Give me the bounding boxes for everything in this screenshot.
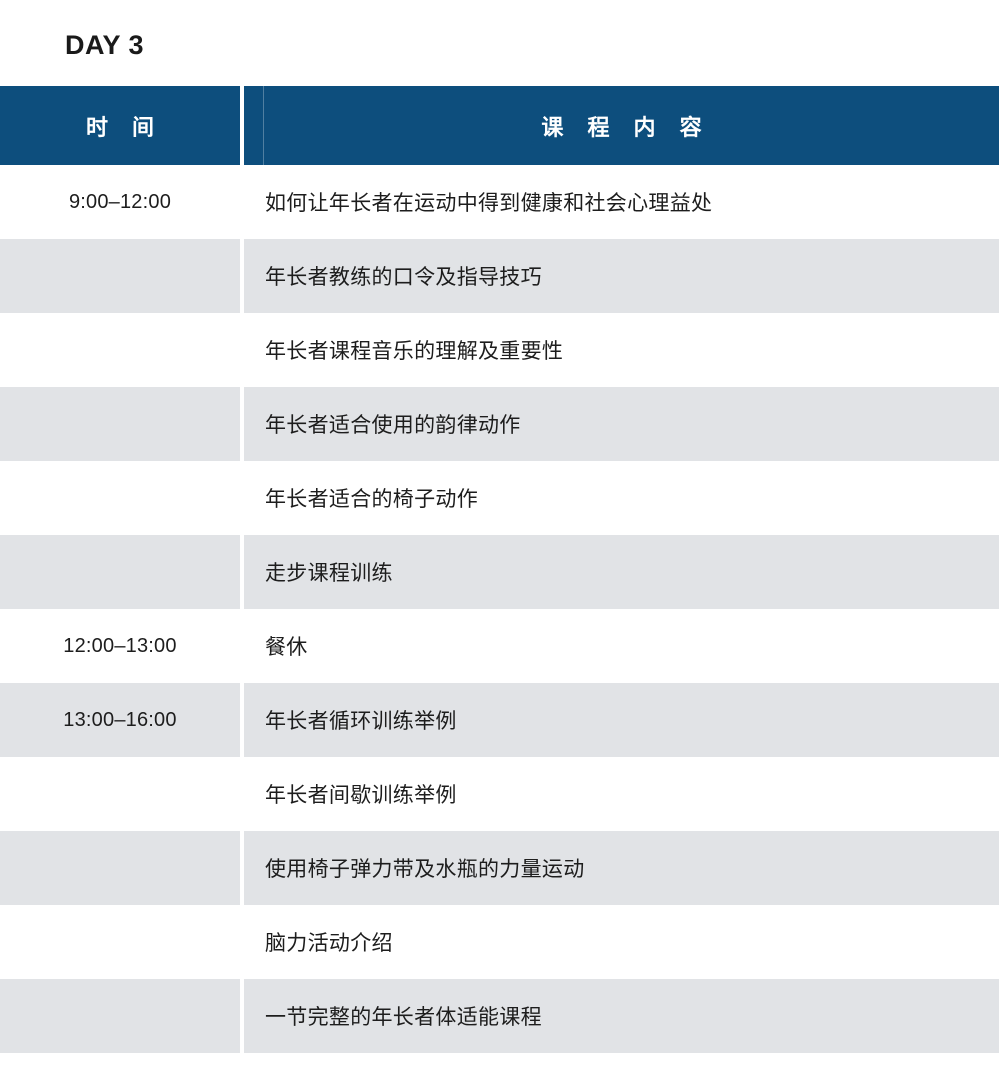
cell-content: 年长者课程音乐的理解及重要性 <box>244 313 999 387</box>
cell-content: 年长者教练的口令及指导技巧 <box>244 239 999 313</box>
cell-content: 走步课程训练 <box>244 535 999 609</box>
table-body: 9:00–12:00如何让年长者在运动中得到健康和社会心理益处年长者教练的口令及… <box>0 165 999 1053</box>
cell-time <box>0 757 240 831</box>
cell-content: 使用椅子弹力带及水瓶的力量运动 <box>244 831 999 905</box>
table-row: 13:00–16:00年长者循环训练举例 <box>0 683 999 757</box>
cell-time: 12:00–13:00 <box>0 609 240 683</box>
column-header-time: 时 间 <box>0 86 240 165</box>
cell-content: 脑力活动介绍 <box>244 905 999 979</box>
table-row: 9:00–12:00如何让年长者在运动中得到健康和社会心理益处 <box>0 165 999 239</box>
table-row: 年长者适合的椅子动作 <box>0 461 999 535</box>
table-row: 年长者教练的口令及指导技巧 <box>0 239 999 313</box>
cell-content: 年长者间歇训练举例 <box>244 757 999 831</box>
cell-content: 如何让年长者在运动中得到健康和社会心理益处 <box>244 165 999 239</box>
cell-content: 餐休 <box>244 609 999 683</box>
cell-time <box>0 239 240 313</box>
cell-content: 年长者适合的椅子动作 <box>244 461 999 535</box>
column-header-content-label: 课 程 内 容 <box>532 110 710 142</box>
table-row: 12:00–13:00餐休 <box>0 609 999 683</box>
table-row: 一节完整的年长者体适能课程 <box>0 979 999 1053</box>
cell-time: 13:00–16:00 <box>0 683 240 757</box>
schedule-table: 时 间 课 程 内 容 9:00–12:00如何让年长者在运动中得到健康和社会心… <box>0 86 999 1053</box>
column-header-content: 课 程 内 容 <box>244 86 999 165</box>
cell-time <box>0 387 240 461</box>
cell-content: 年长者适合使用的韵律动作 <box>244 387 999 461</box>
table-header: 时 间 课 程 内 容 <box>0 86 999 165</box>
table-row: 走步课程训练 <box>0 535 999 609</box>
cell-content: 一节完整的年长者体适能课程 <box>244 979 999 1053</box>
table-row: 年长者课程音乐的理解及重要性 <box>0 313 999 387</box>
cell-time <box>0 461 240 535</box>
cell-time <box>0 905 240 979</box>
schedule-page: DAY 3 时 间 课 程 内 容 9:00–12:00如何让年长者在运动中得到… <box>0 0 999 1067</box>
table-row: 年长者适合使用的韵律动作 <box>0 387 999 461</box>
cell-time: 9:00–12:00 <box>0 165 240 239</box>
cell-time <box>0 535 240 609</box>
cell-content: 年长者循环训练举例 <box>244 683 999 757</box>
cell-time <box>0 313 240 387</box>
page-title: DAY 3 <box>65 27 144 63</box>
column-header-time-label: 时 间 <box>77 110 163 142</box>
table-header-row: 时 间 课 程 内 容 <box>0 86 999 165</box>
cell-time <box>0 831 240 905</box>
table-row: 年长者间歇训练举例 <box>0 757 999 831</box>
cell-time <box>0 979 240 1053</box>
table-row: 脑力活动介绍 <box>0 905 999 979</box>
table-row: 使用椅子弹力带及水瓶的力量运动 <box>0 831 999 905</box>
